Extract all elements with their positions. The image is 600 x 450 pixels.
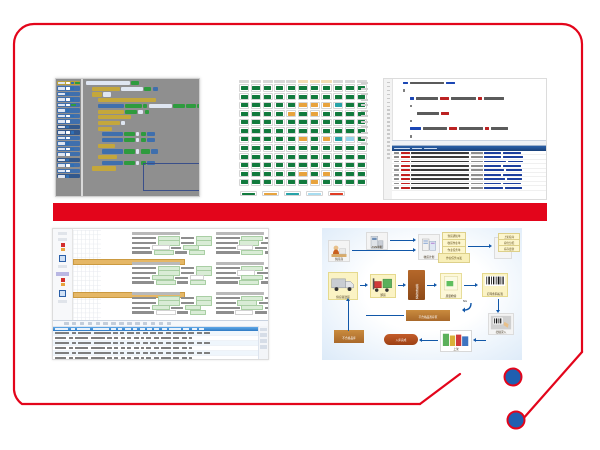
column-header[interactable] <box>147 328 152 330</box>
column-header[interactable] <box>77 328 90 330</box>
slot-cell[interactable] <box>333 153 343 160</box>
table-cell <box>72 352 76 354</box>
palette-block[interactable] <box>57 158 80 162</box>
toolbar-button[interactable] <box>159 322 164 325</box>
rail-group-tag[interactable] <box>56 272 69 276</box>
block-statement[interactable] <box>98 144 200 148</box>
slot-cell[interactable] <box>310 102 320 109</box>
table-cell <box>113 332 118 334</box>
table-cell <box>161 337 171 339</box>
node-label: 打印条码标签 <box>483 293 507 296</box>
block-statement[interactable] <box>98 104 200 108</box>
palette-block[interactable] <box>57 147 80 151</box>
slot-cell[interactable] <box>298 153 308 160</box>
slot-column-header <box>345 80 355 83</box>
table-cell <box>134 347 139 349</box>
form-group <box>132 232 212 260</box>
rail-item[interactable] <box>58 300 67 303</box>
toolbar-button[interactable] <box>88 322 93 325</box>
slot-cell[interactable] <box>239 144 249 151</box>
forklift-icon <box>372 276 394 293</box>
blocks-editor-screenshot[interactable] <box>55 78 200 197</box>
slot-cell[interactable] <box>345 136 355 143</box>
slot-cell[interactable] <box>251 162 261 169</box>
toolbar-button[interactable] <box>143 322 148 325</box>
table-cell <box>173 347 179 349</box>
form-group <box>216 292 269 320</box>
slot-cell[interactable] <box>321 93 331 100</box>
table-cell <box>166 332 171 334</box>
slot-cell[interactable] <box>286 162 296 169</box>
slot-cell[interactable] <box>333 144 343 151</box>
arrow-head-icon <box>419 338 422 342</box>
node-label: ASN单据 <box>367 246 387 249</box>
toolbar-button[interactable] <box>80 322 85 325</box>
arrow-head-icon <box>413 238 416 242</box>
flow-node-put-to-shelf[interactable]: 上架 <box>440 330 472 352</box>
slot-cell[interactable] <box>298 84 308 91</box>
slot-cell[interactable] <box>333 136 343 143</box>
flow-node-quality-check[interactable]: 质量检验 <box>440 273 462 299</box>
slot-cell[interactable] <box>263 102 273 109</box>
table-cell <box>75 347 88 349</box>
table-vertical-scrollbar[interactable] <box>258 326 268 360</box>
form-row <box>216 236 269 239</box>
slot-cell[interactable] <box>274 110 284 117</box>
block-selection-outline <box>143 163 200 191</box>
blocks-palette[interactable] <box>56 79 83 196</box>
slot-cell[interactable] <box>357 144 367 151</box>
slot-cell[interactable] <box>310 93 320 100</box>
form-row <box>132 246 212 249</box>
palette-block[interactable] <box>57 103 80 107</box>
table-cell <box>94 352 111 354</box>
slot-cell[interactable] <box>310 162 320 169</box>
table-cell <box>55 357 66 359</box>
palette-block[interactable] <box>57 169 80 173</box>
slot-cell[interactable] <box>239 153 249 160</box>
slot-cell[interactable] <box>251 127 261 134</box>
table-cell <box>127 332 134 334</box>
slot-cell[interactable] <box>251 84 261 91</box>
slot-cell[interactable] <box>274 144 284 151</box>
slot-cell[interactable] <box>310 179 320 186</box>
slot-cell[interactable] <box>263 93 273 100</box>
slot-cell[interactable] <box>333 102 343 109</box>
slot-cell[interactable] <box>298 93 308 100</box>
slot-cell[interactable] <box>345 84 355 91</box>
slot-cell[interactable] <box>263 179 273 186</box>
slot-cell[interactable] <box>333 119 343 126</box>
inspection-doc-icon <box>442 275 460 293</box>
column-header[interactable] <box>162 328 167 330</box>
flow-node-receiving-area[interactable]: 收货暂存区 <box>408 270 425 300</box>
block-statement[interactable] <box>98 121 200 125</box>
slot-cell[interactable] <box>286 119 296 126</box>
form-row <box>216 296 269 299</box>
slot-cell[interactable] <box>310 153 320 160</box>
form-row <box>132 281 212 284</box>
slot-cell[interactable] <box>345 170 355 177</box>
slot-cell[interactable] <box>321 127 331 134</box>
column-header[interactable] <box>125 328 131 330</box>
slot-cell[interactable] <box>321 144 331 151</box>
block-statement[interactable] <box>98 109 200 113</box>
erp-form-screenshot[interactable] <box>52 228 269 360</box>
code-line <box>410 126 544 130</box>
slot-cell[interactable] <box>298 102 308 109</box>
slot-cell[interactable] <box>263 162 273 169</box>
erp-data-table[interactable] <box>53 320 268 359</box>
slot-cell[interactable] <box>310 170 320 177</box>
table-cell <box>204 342 210 344</box>
column-header[interactable] <box>118 328 122 330</box>
form-row <box>216 276 269 279</box>
block-statement[interactable] <box>98 98 200 102</box>
toolbar-button[interactable] <box>96 322 101 325</box>
slot-cell[interactable] <box>274 84 284 91</box>
slot-cell[interactable] <box>345 93 355 100</box>
palette-block[interactable] <box>57 136 80 140</box>
block-statement[interactable] <box>98 115 200 119</box>
flow-node-asn-system[interactable]: ASN单据 <box>366 232 388 250</box>
toolbar-button[interactable] <box>72 322 77 325</box>
slot-cell[interactable] <box>239 84 249 91</box>
flow-node-scan-confirm[interactable]: 扫描录入 <box>488 313 514 335</box>
palette-block[interactable] <box>57 86 80 90</box>
scroll-thumb[interactable] <box>260 328 266 332</box>
slot-cell[interactable] <box>274 127 284 134</box>
slot-cell[interactable] <box>274 119 284 126</box>
slot-cell[interactable] <box>239 170 249 177</box>
toolbar-button[interactable] <box>127 322 132 325</box>
form-row <box>132 301 212 304</box>
slot-cell[interactable] <box>298 136 308 143</box>
slot-cell[interactable] <box>263 84 273 91</box>
slot-cell[interactable] <box>321 136 331 143</box>
slot-cell[interactable] <box>251 144 261 151</box>
slot-cell[interactable] <box>251 102 261 109</box>
slot-cell[interactable] <box>274 162 284 169</box>
slot-column-header <box>263 80 273 83</box>
scroll-thumb[interactable] <box>260 339 266 343</box>
legend-swatch-available <box>240 191 257 197</box>
column-header[interactable] <box>111 328 116 330</box>
form-group <box>216 232 269 260</box>
slot-cell[interactable] <box>321 179 331 186</box>
palette-block[interactable] <box>57 130 80 134</box>
table-cell <box>120 352 124 354</box>
slot-cell[interactable] <box>286 170 296 177</box>
slot-cell[interactable] <box>286 93 296 100</box>
slot-cell[interactable] <box>274 179 284 186</box>
node-label: 不合格品暂存区 <box>406 316 450 319</box>
slot-cell[interactable] <box>239 179 249 186</box>
slot-cell[interactable] <box>239 102 249 109</box>
flow-node-reject-area[interactable]: 不合格品暂存区 <box>406 310 450 321</box>
palette-block[interactable] <box>57 108 80 112</box>
table-cell <box>161 357 171 359</box>
rail-item[interactable] <box>58 238 67 241</box>
flow-tag-stock-update: 库存更新 <box>498 245 520 252</box>
slot-status-grid-screenshot[interactable] <box>238 78 368 198</box>
slot-cell[interactable] <box>333 93 343 100</box>
slot-cell[interactable] <box>251 119 261 126</box>
slot-cell[interactable] <box>345 144 355 151</box>
rail-selected-marker[interactable] <box>59 290 66 297</box>
slot-cell[interactable] <box>286 110 296 117</box>
slot-cell[interactable] <box>321 153 331 160</box>
slot-cell[interactable] <box>298 170 308 177</box>
block-statement[interactable] <box>102 138 200 142</box>
arrow-rejectstore-to-truck <box>348 301 349 331</box>
table-cell <box>204 352 210 354</box>
table-cell <box>182 337 187 339</box>
flow-node-inbound-done[interactable]: 入库完成 <box>384 334 418 345</box>
form-row <box>132 236 212 239</box>
palette-block[interactable] <box>57 174 80 178</box>
slot-cell[interactable] <box>345 153 355 160</box>
flow-node-supplier-notice[interactable]: 供应商 <box>328 240 350 262</box>
code-editor-screenshot[interactable] <box>383 78 547 200</box>
slot-cell[interactable] <box>333 84 343 91</box>
toolbar-button[interactable] <box>111 322 116 325</box>
palette-block[interactable] <box>57 119 80 123</box>
slot-cell[interactable] <box>333 170 343 177</box>
table-cell <box>75 337 88 339</box>
table-cell <box>143 342 148 344</box>
arrow-head-icon <box>475 283 478 287</box>
slot-cell[interactable] <box>298 119 308 126</box>
table-cell <box>107 337 112 339</box>
table-cell <box>55 352 69 354</box>
slot-cell[interactable] <box>274 93 284 100</box>
block-statement[interactable] <box>92 92 200 96</box>
rail-selected-marker[interactable] <box>59 255 66 262</box>
slot-cell[interactable] <box>310 144 320 151</box>
slot-cell[interactable] <box>263 127 273 134</box>
slot-cell[interactable] <box>251 170 261 177</box>
table-cell <box>78 332 91 334</box>
slot-cell[interactable] <box>286 136 296 143</box>
flow-node-inbound-truck[interactable]: 供应商送货 <box>328 272 358 300</box>
scroll-thumb[interactable] <box>260 333 266 337</box>
slot-cell[interactable] <box>345 127 355 134</box>
slot-cell[interactable] <box>321 102 331 109</box>
toolbar-button[interactable] <box>103 322 108 325</box>
legend-swatch-blocked <box>328 191 345 197</box>
slot-cell[interactable] <box>251 136 261 143</box>
form-row <box>216 281 269 284</box>
slot-cell[interactable] <box>239 136 249 143</box>
slot-cell[interactable] <box>345 110 355 117</box>
slot-cell[interactable] <box>286 144 296 151</box>
toolbar-button[interactable] <box>135 322 140 325</box>
slot-cell[interactable] <box>251 93 261 100</box>
palette-block[interactable] <box>57 114 80 118</box>
column-header[interactable] <box>71 328 75 330</box>
code-line <box>410 96 544 100</box>
slot-cell[interactable] <box>286 84 296 91</box>
slot-cell[interactable] <box>298 179 308 186</box>
blocks-canvas[interactable] <box>83 79 200 196</box>
flow-tag-dispatch: 作业任务派发 <box>438 253 470 263</box>
palette-block[interactable] <box>57 152 80 156</box>
toolbar-button[interactable] <box>151 322 156 325</box>
slot-cell[interactable] <box>274 102 284 109</box>
slot-cell[interactable] <box>298 144 308 151</box>
build-output-pane[interactable] <box>392 145 546 199</box>
toolbar-button[interactable] <box>64 322 69 325</box>
slot-cell[interactable] <box>298 162 308 169</box>
column-header[interactable] <box>140 328 145 330</box>
toolbar-button[interactable] <box>119 322 124 325</box>
block-statement[interactable] <box>102 132 200 136</box>
block-statement[interactable] <box>98 155 200 159</box>
table-cell <box>127 357 131 359</box>
slot-cell[interactable] <box>263 136 273 143</box>
palette-block[interactable] <box>57 92 80 96</box>
erp-navigation-rail[interactable] <box>53 229 73 321</box>
slot-cell[interactable] <box>310 119 320 126</box>
node-label: 收货计划 <box>419 256 439 259</box>
slot-cell[interactable] <box>357 170 367 177</box>
table-body[interactable] <box>53 327 268 361</box>
block-statement[interactable] <box>102 149 200 153</box>
palette-block[interactable] <box>57 81 80 85</box>
slot-cell[interactable] <box>286 179 296 186</box>
arrow-supplier-to-plan <box>352 250 414 251</box>
form-row <box>216 251 269 254</box>
palette-block[interactable] <box>57 163 80 167</box>
column-header[interactable] <box>169 328 181 330</box>
slot-cell[interactable] <box>310 110 320 117</box>
slot-cell[interactable] <box>239 119 249 126</box>
palette-block[interactable] <box>57 97 80 101</box>
slot-cell[interactable] <box>310 136 320 143</box>
slot-cell[interactable] <box>274 170 284 177</box>
rail-item[interactable] <box>58 265 67 268</box>
column-header[interactable] <box>154 328 159 330</box>
slot-cell[interactable] <box>333 127 343 134</box>
slot-cell[interactable] <box>274 153 284 160</box>
block-statement[interactable] <box>98 127 200 131</box>
slot-cell[interactable] <box>357 153 367 160</box>
slot-cell[interactable] <box>239 162 249 169</box>
rail-item[interactable] <box>58 232 67 235</box>
slot-cell[interactable] <box>239 110 249 117</box>
slot-cell[interactable] <box>298 127 308 134</box>
slot-cell[interactable] <box>286 153 296 160</box>
slot-cell[interactable] <box>310 127 320 134</box>
form-group <box>132 262 212 290</box>
slot-cell[interactable] <box>263 153 273 160</box>
slot-cell[interactable] <box>321 110 331 117</box>
node-label: 收货暂存区 <box>415 284 418 300</box>
slot-grid[interactable] <box>238 78 368 186</box>
block-statement[interactable] <box>92 87 200 91</box>
slot-cell[interactable] <box>286 127 296 134</box>
slot-cell[interactable] <box>274 136 284 143</box>
arrow-head-icon <box>346 298 350 301</box>
form-row <box>216 271 269 274</box>
slot-cell[interactable] <box>321 119 331 126</box>
flow-node-receiving-plan[interactable]: 收货计划 <box>418 234 440 260</box>
flow-node-unload[interactable]: 卸货 <box>370 274 396 298</box>
scroll-thumb[interactable] <box>260 345 266 349</box>
table-cell <box>150 342 156 344</box>
slot-cell[interactable] <box>321 170 331 177</box>
palette-block[interactable] <box>57 141 80 145</box>
slot-cell[interactable] <box>321 162 331 169</box>
block-statement[interactable] <box>86 81 200 85</box>
form-row <box>216 311 269 314</box>
warehouse-process-flow-screenshot[interactable]: 供应商 ASN单据 收货计划 到货通知单 收货作业单 作业任务单 作业任务派发 <box>322 228 522 360</box>
slot-cell[interactable] <box>310 84 320 91</box>
node-label: 供应商 <box>329 258 349 261</box>
slot-cell[interactable] <box>333 179 343 186</box>
slot-cell[interactable] <box>298 110 308 117</box>
slot-cell[interactable] <box>345 119 355 126</box>
column-header[interactable] <box>55 328 68 330</box>
slot-cell[interactable] <box>263 170 273 177</box>
branch-curve-icon <box>461 303 473 313</box>
slot-cell[interactable] <box>345 179 355 186</box>
erp-detail-form[interactable] <box>131 231 258 321</box>
slot-cell[interactable] <box>357 162 367 169</box>
flow-node-barcode-label[interactable]: 打印条码标签 <box>482 273 508 297</box>
table-cell <box>166 342 171 344</box>
erp-gantt-grid[interactable] <box>73 230 101 321</box>
arrow-head-icon <box>365 283 368 287</box>
slot-cell[interactable] <box>263 119 273 126</box>
slot-cell[interactable] <box>251 110 261 117</box>
slot-cell[interactable] <box>345 162 355 169</box>
column-header[interactable] <box>183 328 189 330</box>
slot-cell[interactable] <box>345 102 355 109</box>
column-header[interactable] <box>93 328 109 330</box>
column-header[interactable] <box>133 328 137 330</box>
slot-cell[interactable] <box>333 110 343 117</box>
slot-cell[interactable] <box>321 84 331 91</box>
slot-cell[interactable] <box>286 102 296 109</box>
toolbar-button[interactable] <box>167 322 172 325</box>
slot-cell[interactable] <box>263 144 273 151</box>
palette-block[interactable] <box>57 125 80 129</box>
slot-cell[interactable] <box>333 162 343 169</box>
table-cell <box>69 347 73 349</box>
table-cell <box>120 332 124 334</box>
slot-cell[interactable] <box>357 179 367 186</box>
slot-cell[interactable] <box>251 153 261 160</box>
column-header[interactable] <box>199 328 204 330</box>
legend-swatch-in-transit <box>284 191 301 197</box>
table-row[interactable] <box>53 356 268 360</box>
code-line <box>403 89 544 93</box>
slot-cell[interactable] <box>263 110 273 117</box>
node-label: 供应商送货 <box>329 296 357 299</box>
slot-column-header <box>286 80 296 83</box>
column-header[interactable] <box>192 328 197 330</box>
flow-node-reject-store[interactable]: 不合格品库 <box>334 330 364 343</box>
table-cell <box>161 347 171 349</box>
table-cell <box>78 352 91 354</box>
slot-cell[interactable] <box>239 93 249 100</box>
slot-cell[interactable] <box>251 179 261 186</box>
slot-column-header <box>274 80 284 83</box>
table-cell <box>55 347 66 349</box>
slot-cell[interactable] <box>239 127 249 134</box>
